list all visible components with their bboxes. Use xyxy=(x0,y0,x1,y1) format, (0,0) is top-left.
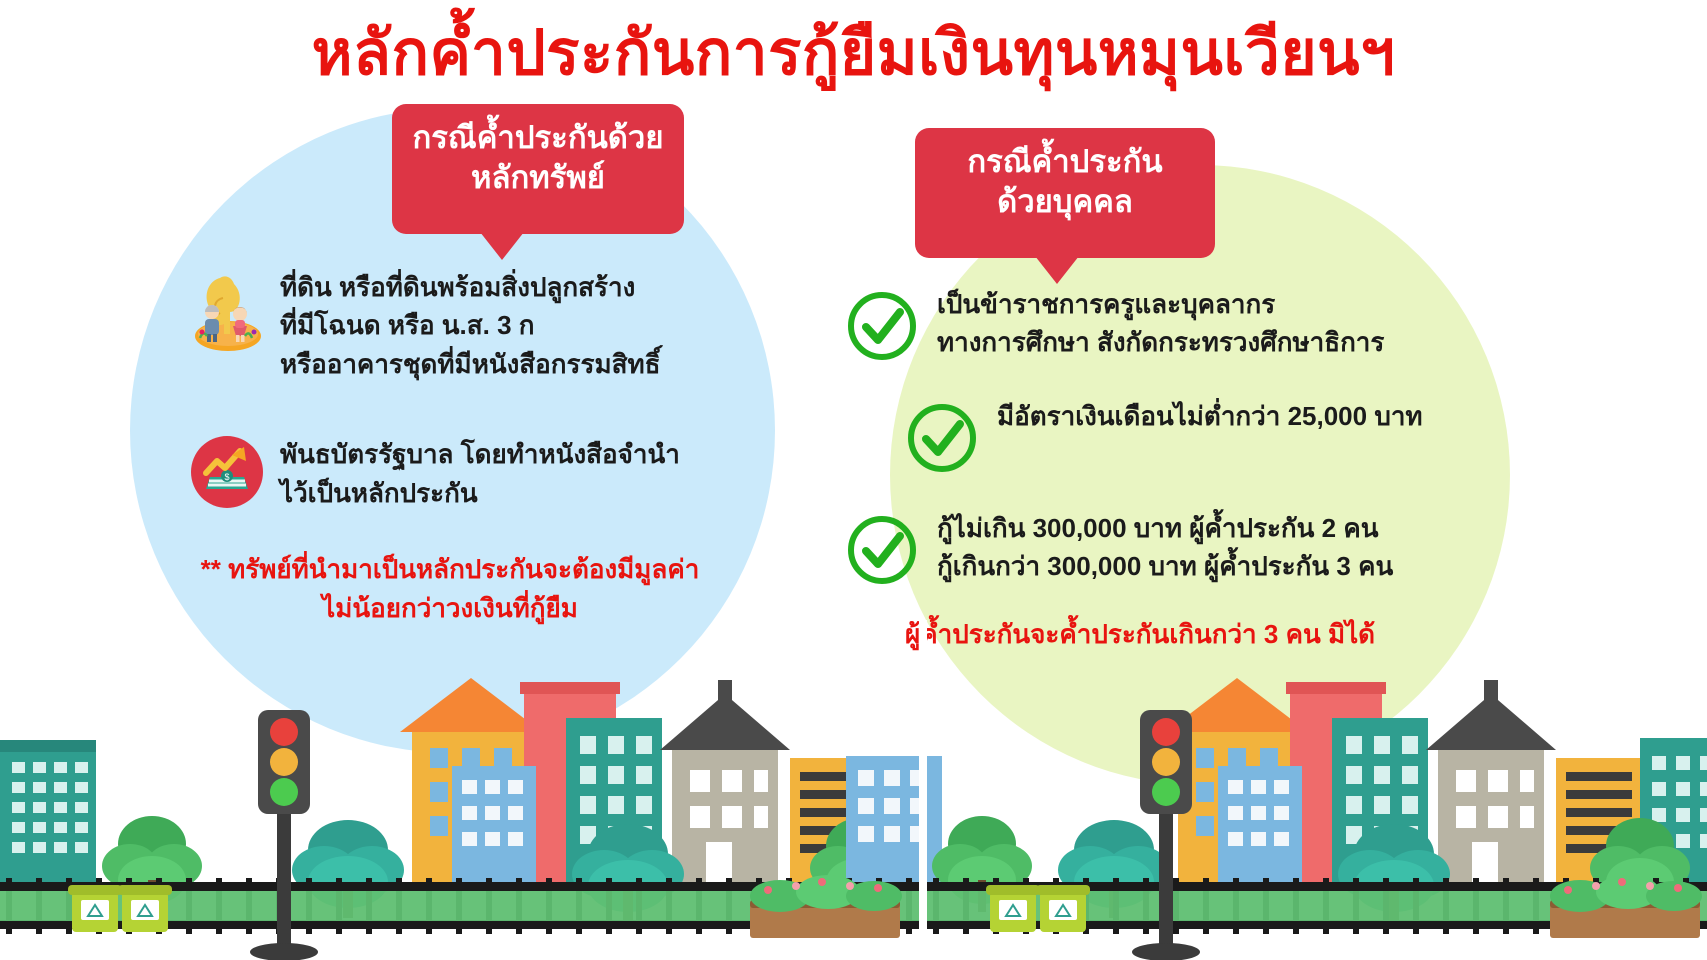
list-item-guarantors: กู้ไม่เกิน 300,000 บาท ผู้ค้ำประกัน 2 คน… xyxy=(845,509,1445,587)
guarantors-line-1: กู้ไม่เกิน 300,000 บาท ผู้ค้ำประกัน 2 คน xyxy=(937,509,1393,547)
guarantors-line-2: กู้เกินกว่า 300,000 บาท ผู้ค้ำประกัน 3 ค… xyxy=(937,547,1393,585)
city-skyline-illustration xyxy=(0,620,1707,960)
land-line-2: ที่มีโฉนด หรือ น.ส. 3 ก xyxy=(280,306,660,344)
bond-line-2: ไว้เป็นหลักประกัน xyxy=(280,474,680,512)
check-circle-icon xyxy=(845,289,919,363)
list-item-land: ที่ดิน หรือที่ดินพร้อมสิ่งปลูกสร้าง ที่ม… xyxy=(190,268,710,383)
panel-divider xyxy=(919,620,927,960)
money-growth-icon: $ xyxy=(190,435,264,514)
guarantors-text-block: กู้ไม่เกิน 300,000 บาท ผู้ค้ำประกัน 2 คน… xyxy=(937,509,1393,586)
check-circle-icon xyxy=(845,513,919,587)
right-header-line1: กรณีค้ำประกัน xyxy=(935,142,1195,182)
bond-text-block: พันธบัตรรัฐบาล โดยทำหนังสือจำนำ ไว้เป็นห… xyxy=(280,435,680,512)
left-header-line2: หลักทรัพย์ xyxy=(412,158,664,198)
bond-line-1: พันธบัตรรัฐบาล โดยทำหนังสือจำนำ xyxy=(280,435,680,473)
page-title: หลักค้ำประกันการกู้ยืมเงินทุนหมุนเวียนฯ xyxy=(0,18,1707,89)
right-header-line2: ด้วยบุคคล xyxy=(935,182,1195,222)
flower-planter-left xyxy=(750,875,902,938)
left-note: ** ทรัพย์ที่นำมาเป็นหลักประกันจะต้องมีมู… xyxy=(190,550,710,627)
speech-tail-icon xyxy=(1035,256,1079,284)
infographic-canvas: หลักค้ำประกันการกู้ยืมเงินทุนหมุนเวียนฯ … xyxy=(0,0,1707,960)
right-content-group: เป็นข้าราชการครูและบุคลากร ทางการศึกษา ส… xyxy=(845,285,1445,653)
salary-line-1: มีอัตราเงินเดือนไม่ต่ำกว่า 25,000 บาท xyxy=(997,397,1423,435)
family-on-land-icon xyxy=(190,268,266,357)
eligibility-line-2: ทางการศึกษา สังกัดกระทรวงศึกษาธิการ xyxy=(937,323,1384,361)
salary-text-block: มีอัตราเงินเดือนไม่ต่ำกว่า 25,000 บาท xyxy=(997,397,1423,435)
left-note-line-1: ** ทรัพย์ที่นำมาเป็นหลักประกันจะต้องมีมู… xyxy=(190,550,710,588)
check-circle-icon xyxy=(905,401,979,475)
flower-planter-right xyxy=(1550,875,1702,938)
right-section-header: กรณีค้ำประกัน ด้วยบุคคล xyxy=(915,128,1215,258)
list-item-bond: $ พันธบัตรรัฐบาล โดยทำหนังสือจำนำ ไว้เป็… xyxy=(190,435,710,514)
list-item-salary: มีอัตราเงินเดือนไม่ต่ำกว่า 25,000 บาท xyxy=(905,397,1445,475)
eligibility-line-1: เป็นข้าราชการครูและบุคลากร xyxy=(937,285,1384,323)
left-content-group: ที่ดิน หรือที่ดินพร้อมสิ่งปลูกสร้าง ที่ม… xyxy=(190,268,710,627)
speech-tail-icon xyxy=(480,232,524,260)
left-header-line1: กรณีค้ำประกันด้วย xyxy=(412,118,664,158)
land-line-1: ที่ดิน หรือที่ดินพร้อมสิ่งปลูกสร้าง xyxy=(280,268,660,306)
land-line-3: หรืออาคารชุดที่มีหนังสือกรรมสิทธิ์ xyxy=(280,345,660,383)
land-text-block: ที่ดิน หรือที่ดินพร้อมสิ่งปลูกสร้าง ที่ม… xyxy=(280,268,660,383)
eligibility-text-block: เป็นข้าราชการครูและบุคลากร ทางการศึกษา ส… xyxy=(937,285,1384,362)
svg-text:$: $ xyxy=(224,472,229,482)
list-item-eligibility: เป็นข้าราชการครูและบุคลากร ทางการศึกษา ส… xyxy=(845,285,1445,363)
left-section-header: กรณีค้ำประกันด้วย หลักทรัพย์ xyxy=(392,104,684,234)
